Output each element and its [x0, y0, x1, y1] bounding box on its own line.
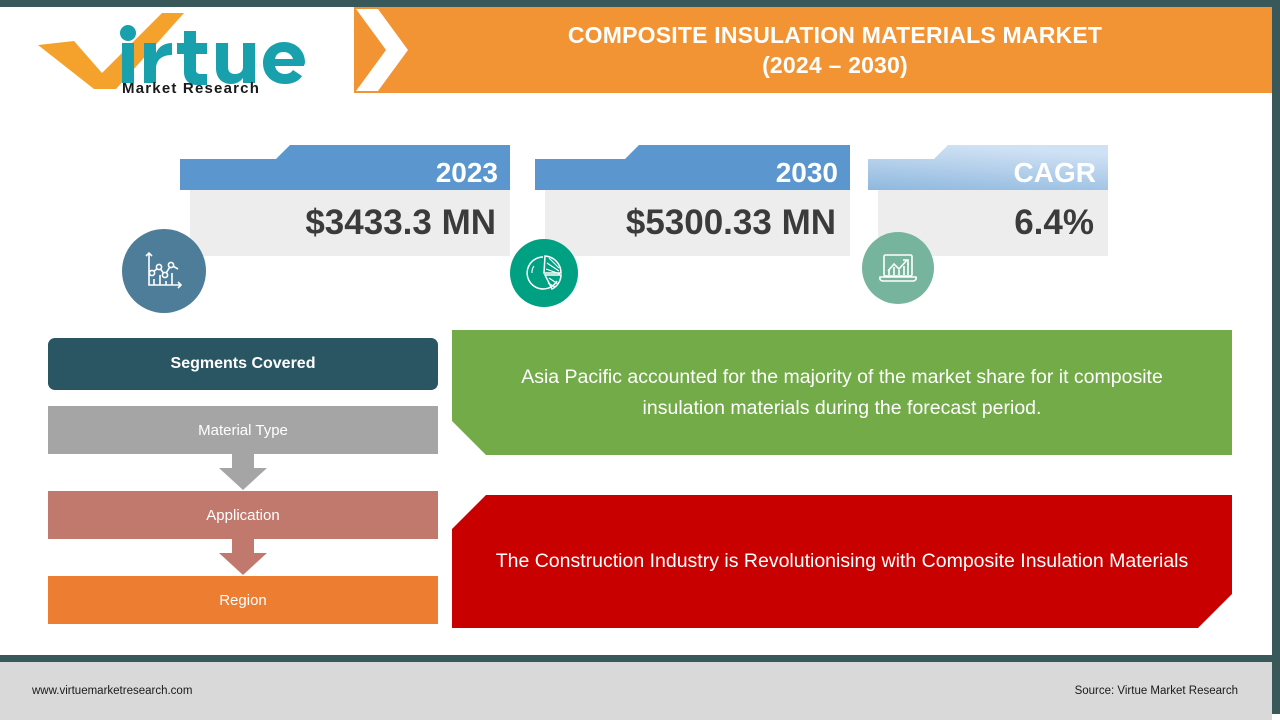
chevron-arrow-icon — [346, 7, 426, 93]
right-border — [1272, 0, 1280, 714]
footer-source: Source: Virtue Market Research — [1075, 685, 1238, 697]
stat-card-2030: 2030 $5300.33 MN — [535, 145, 850, 256]
footer: www.virtuemarketresearch.com Source: Vir… — [0, 662, 1272, 720]
segment-label: Application — [206, 507, 279, 524]
stat-card-label: 2030 — [776, 157, 838, 189]
segment-item-material-type[interactable]: Material Type — [48, 406, 438, 454]
callout-text: Asia Pacific accounted for the majority … — [452, 362, 1232, 424]
page-title-line2: (2024 – 2030) — [762, 50, 908, 80]
segment-label: Region — [219, 592, 267, 609]
segments-heading-label: Segments Covered — [171, 355, 316, 373]
virtue-market-research-logo: Market Research — [34, 11, 324, 95]
stat-card-value: $5300.33 MN — [545, 190, 850, 256]
svg-text:Market Research: Market Research — [122, 80, 260, 95]
header: Market Research COMPOSITE INSULATION MAT… — [0, 7, 1272, 95]
footer-divider — [0, 655, 1272, 662]
stat-card-value: $3433.3 MN — [190, 190, 510, 256]
segment-arrow-down-icon — [215, 539, 271, 576]
page-title: COMPOSITE INSULATION MATERIALS MARKET (2… — [440, 7, 1230, 93]
segments-heading: Segments Covered — [48, 338, 438, 390]
segment-arrow-down-icon — [215, 454, 271, 491]
callout-text: The Construction Industry is Revolutioni… — [454, 546, 1231, 577]
segment-label: Material Type — [198, 422, 288, 439]
line-chart-icon — [122, 229, 206, 313]
segment-item-application[interactable]: Application — [48, 491, 438, 539]
stat-card-label: CAGR — [1014, 157, 1096, 189]
stat-card-label: 2023 — [436, 157, 498, 189]
callout-asia-pacific: Asia Pacific accounted for the majority … — [452, 330, 1232, 455]
page-title-line1: COMPOSITE INSULATION MATERIALS MARKET — [568, 20, 1102, 50]
segment-item-region[interactable]: Region — [48, 576, 438, 624]
stat-card-2023: 2023 $3433.3 MN — [180, 145, 510, 256]
footer-website[interactable]: www.virtuemarketresearch.com — [32, 685, 192, 697]
callout-construction-industry: The Construction Industry is Revolutioni… — [452, 495, 1232, 628]
infographic-page: Market Research COMPOSITE INSULATION MAT… — [0, 0, 1280, 720]
top-border — [0, 0, 1280, 7]
pie-chart-icon — [510, 239, 578, 307]
growth-laptop-icon — [862, 232, 934, 304]
